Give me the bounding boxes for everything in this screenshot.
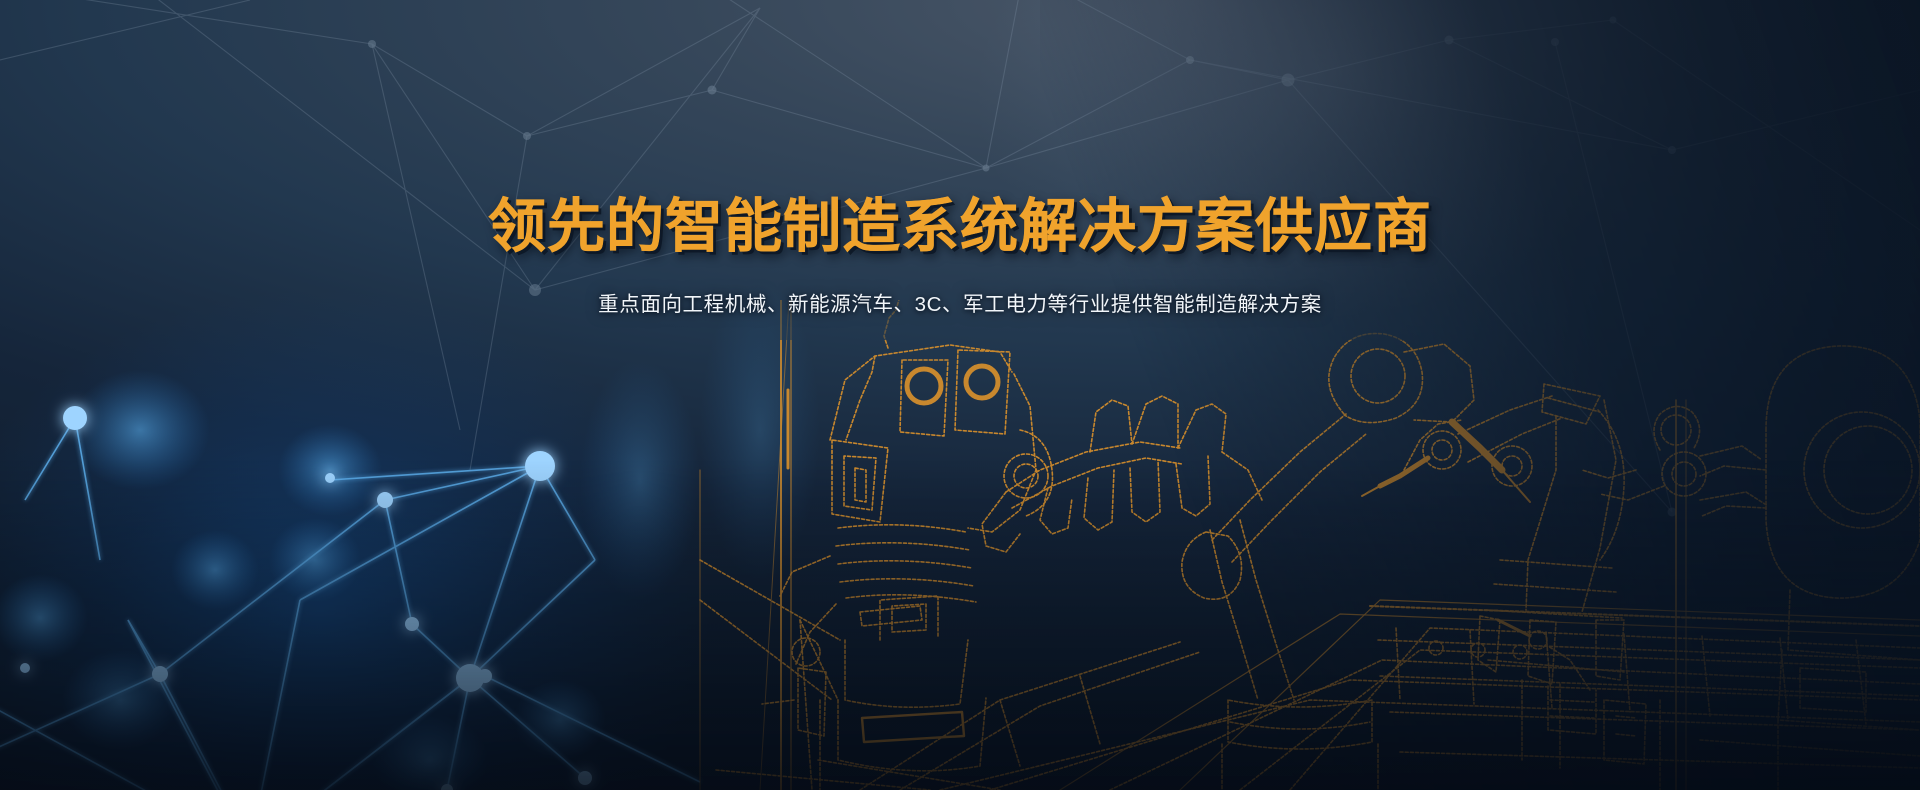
page-subtitle: 重点面向工程机械、新能源汽车、3C、军工电力等行业提供智能制造解决方案: [0, 287, 1920, 317]
hero-banner: 领先的智能制造系统解决方案供应商 重点面向工程机械、新能源汽车、3C、军工电力等…: [0, 0, 1920, 790]
background-bottom-vignette: [0, 460, 1920, 790]
page-title: 领先的智能制造系统解决方案供应商: [0, 196, 1920, 259]
hero-text-block: 领先的智能制造系统解决方案供应商 重点面向工程机械、新能源汽车、3C、军工电力等…: [0, 196, 1920, 317]
